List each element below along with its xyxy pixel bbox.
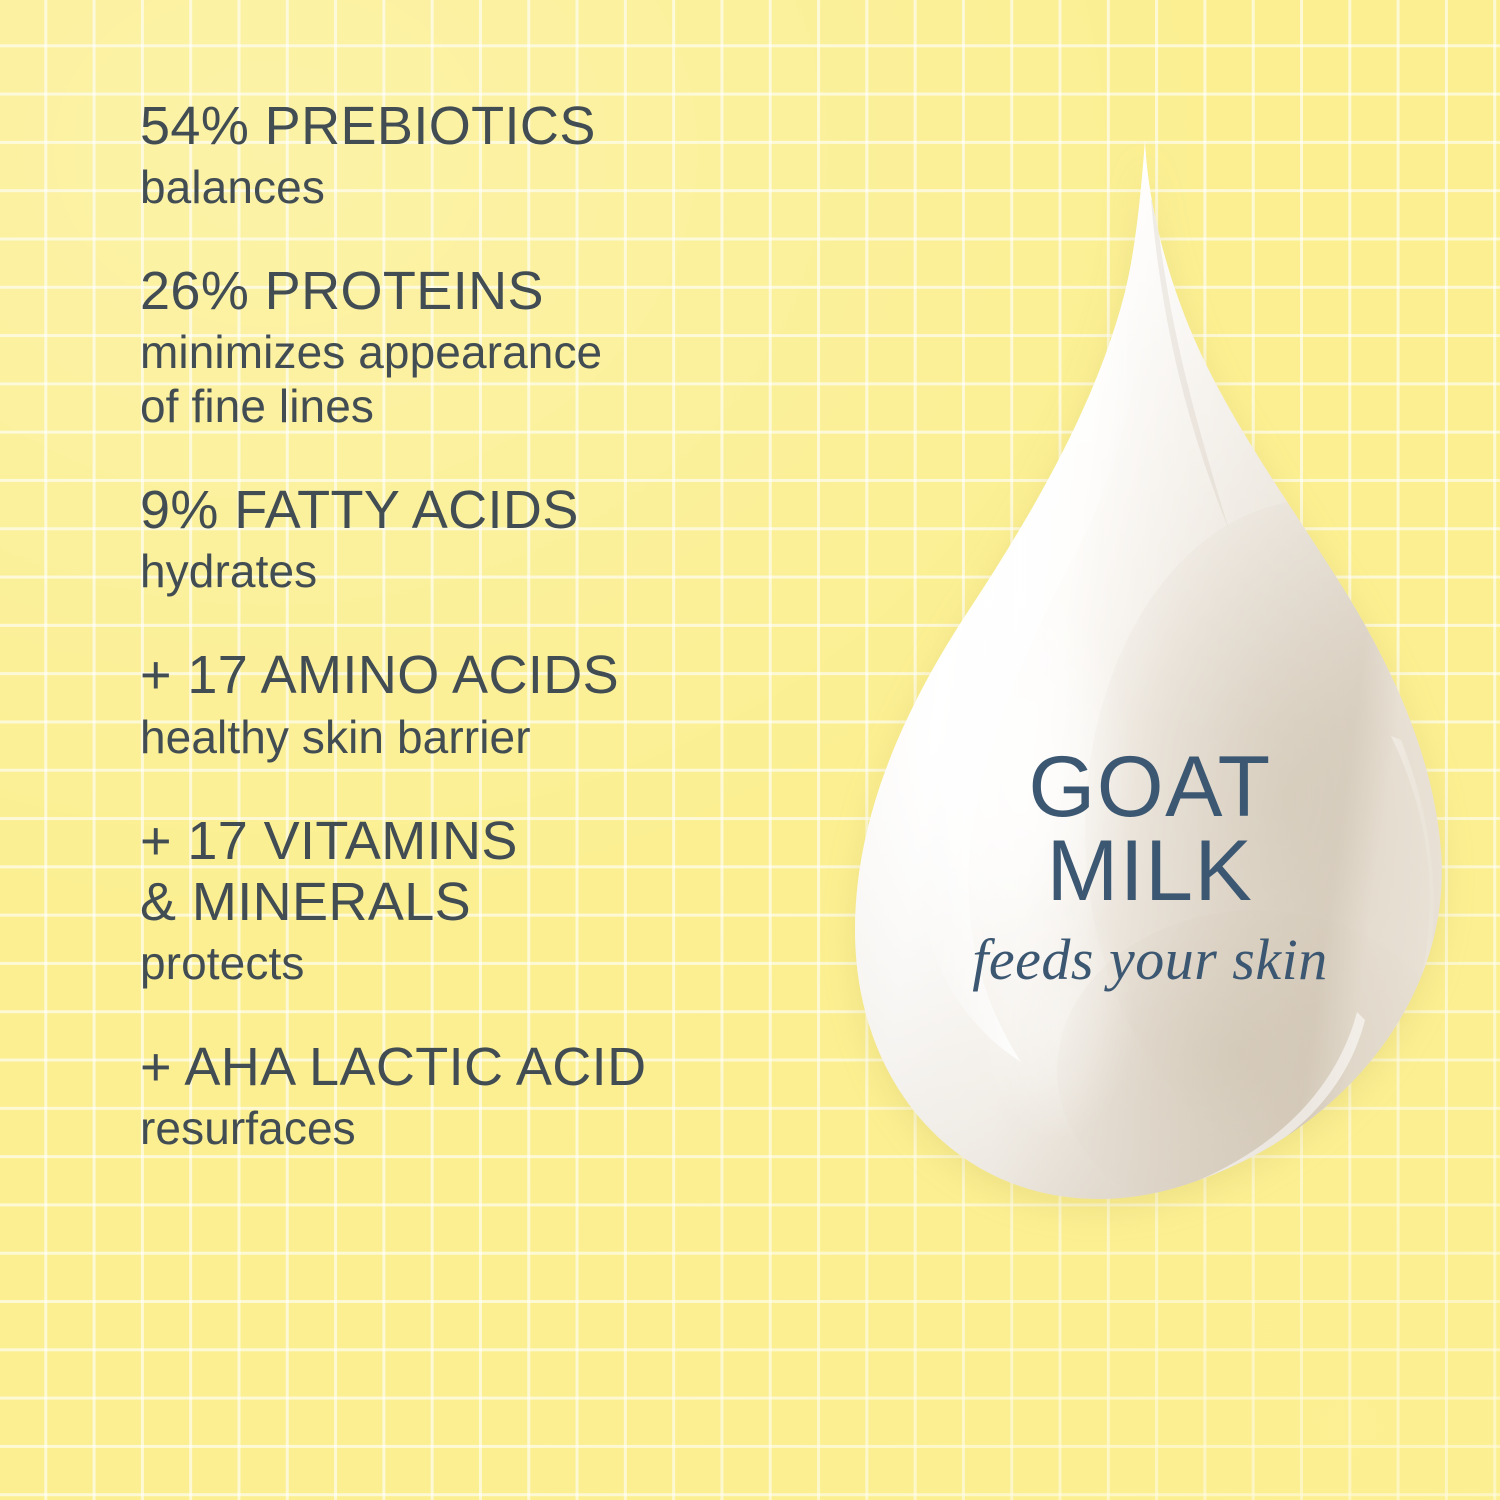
fact-subtitle: healthy skin barrier xyxy=(140,711,860,764)
milk-droplet-graphic: GOAT MILK feeds your skin xyxy=(845,140,1455,1215)
fact-title: 26% PROTEINS xyxy=(140,261,860,322)
fact-item-vitamins-minerals: + 17 VITAMINS & MINERALS protects xyxy=(140,811,860,990)
fact-subtitle: minimizes appearance of fine lines xyxy=(140,326,860,433)
fact-subtitle: balances xyxy=(140,161,860,214)
fact-title: 9% FATTY ACIDS xyxy=(140,480,860,541)
fact-item-prebiotics: 54% PREBIOTICS balances xyxy=(140,96,860,214)
fact-subtitle: resurfaces xyxy=(140,1102,860,1155)
infographic-canvas: 54% PREBIOTICS balances 26% PROTEINS min… xyxy=(0,0,1500,1500)
fact-title: + 17 VITAMINS & MINERALS xyxy=(140,811,860,933)
ingredient-fact-list: 54% PREBIOTICS balances 26% PROTEINS min… xyxy=(140,96,860,1156)
fact-item-fatty-acids: 9% FATTY ACIDS hydrates xyxy=(140,480,860,598)
droplet-shading xyxy=(845,140,1455,1215)
fact-title: 54% PREBIOTICS xyxy=(140,96,860,157)
fact-title: + AHA LACTIC ACID xyxy=(140,1037,860,1098)
fact-item-proteins: 26% PROTEINS minimizes appearance of fin… xyxy=(140,261,860,433)
fact-item-aha-lactic-acid: + AHA LACTIC ACID resurfaces xyxy=(140,1037,860,1155)
fact-subtitle: hydrates xyxy=(140,545,860,598)
fact-title: + 17 AMINO ACIDS xyxy=(140,645,860,706)
fact-subtitle: protects xyxy=(140,937,860,990)
fact-item-amino-acids: + 17 AMINO ACIDS healthy skin barrier xyxy=(140,645,860,763)
milk-droplet-icon xyxy=(845,140,1455,1215)
